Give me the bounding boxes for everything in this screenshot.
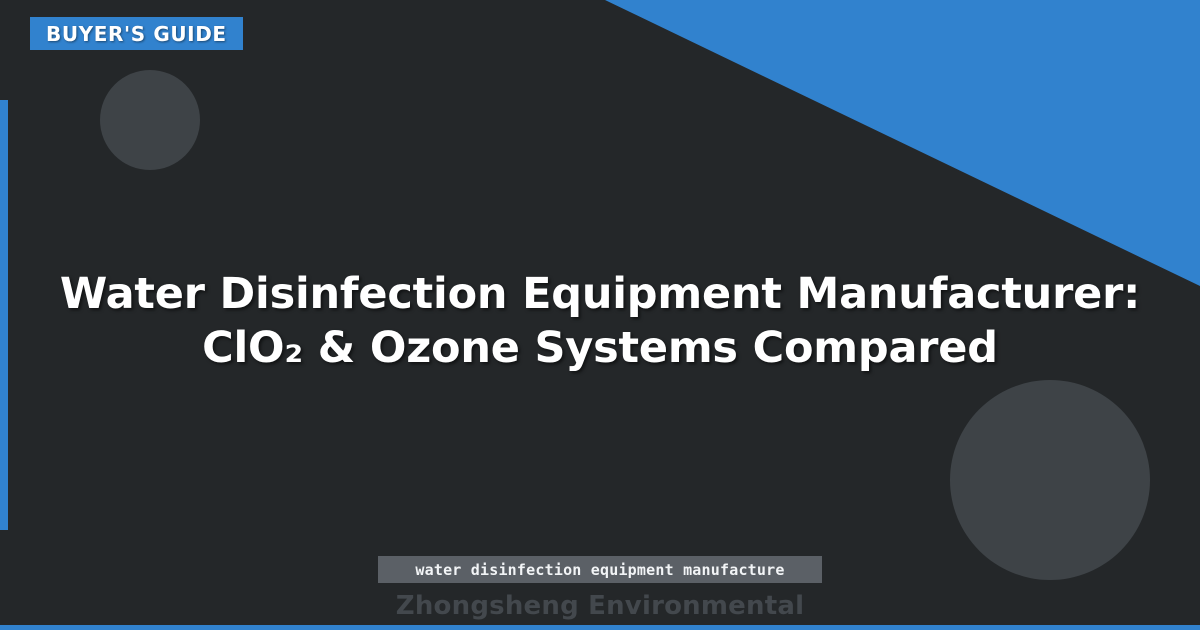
keyword-chip-label: water disinfection equipment manufacture [415,561,784,579]
decorative-circle-small [100,70,200,170]
brand-name: Zhongsheng Environmental [0,591,1200,621]
keyword-chip: water disinfection equipment manufacture [378,556,822,583]
decorative-circle-large [950,380,1150,580]
bottom-accent-bar [0,625,1200,630]
headline-line-1: Water Disinfection Equipment Manufacture… [55,267,1145,321]
headline-line-2: ClO₂ & Ozone Systems Compared [55,321,1145,375]
buyers-guide-badge: BUYER'S GUIDE [30,17,243,50]
page-title: Water Disinfection Equipment Manufacture… [0,267,1200,375]
social-card-canvas: BUYER'S GUIDE Water Disinfection Equipme… [0,0,1200,630]
badge-label: BUYER'S GUIDE [46,22,227,46]
